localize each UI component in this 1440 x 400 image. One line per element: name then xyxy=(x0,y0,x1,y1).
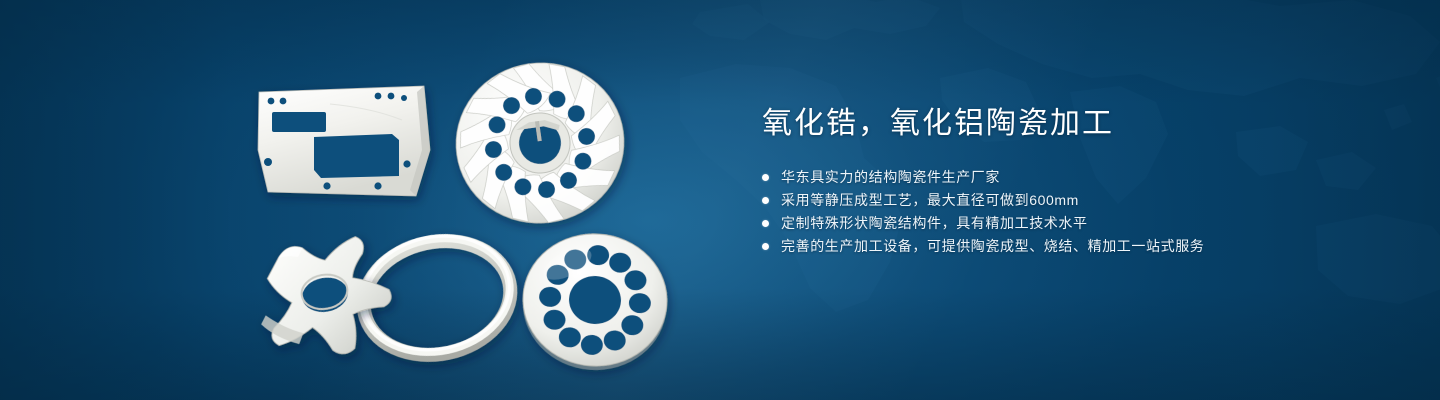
feature-text: 定制特殊形状陶瓷结构件，具有精加工技术水平 xyxy=(781,212,1088,235)
bullet-dot-icon xyxy=(762,174,769,181)
bullet-dot-icon xyxy=(762,197,769,204)
list-item: 定制特殊形状陶瓷结构件，具有精加工技术水平 xyxy=(762,212,1362,235)
ceramic-cross-plate xyxy=(249,231,400,367)
ceramic-perforated-disc xyxy=(518,229,671,375)
feature-text: 华东具实力的结构陶瓷件生产厂家 xyxy=(781,166,1000,189)
hero-banner: 氧化锆，氧化铝陶瓷加工 华东具实力的结构陶瓷件生产厂家 采用等静压成型工艺，最大… xyxy=(0,0,1440,400)
feature-text: 完善的生产加工设备，可提供陶瓷成型、烧结、精加工一站式服务 xyxy=(781,235,1204,258)
banner-copy: 氧化锆，氧化铝陶瓷加工 华东具实力的结构陶瓷件生产厂家 采用等静压成型工艺，最大… xyxy=(762,104,1362,258)
ceramic-mounting-plate xyxy=(258,86,430,196)
feature-list: 华东具实力的结构陶瓷件生产厂家 采用等静压成型工艺，最大直径可做到600mm 定… xyxy=(762,166,1362,258)
bullet-dot-icon xyxy=(762,243,769,250)
bullet-dot-icon xyxy=(762,220,769,227)
feature-text: 采用等静压成型工艺，最大直径可做到600mm xyxy=(781,189,1079,212)
list-item: 采用等静压成型工艺，最大直径可做到600mm xyxy=(762,189,1362,212)
product-photo-cluster xyxy=(0,0,720,400)
banner-headline: 氧化锆，氧化铝陶瓷加工 xyxy=(762,104,1362,144)
list-item: 华东具实力的结构陶瓷件生产厂家 xyxy=(762,166,1362,189)
ceramic-impeller-disc xyxy=(444,45,637,241)
list-item: 完善的生产加工设备，可提供陶瓷成型、烧结、精加工一站式服务 xyxy=(762,235,1362,258)
